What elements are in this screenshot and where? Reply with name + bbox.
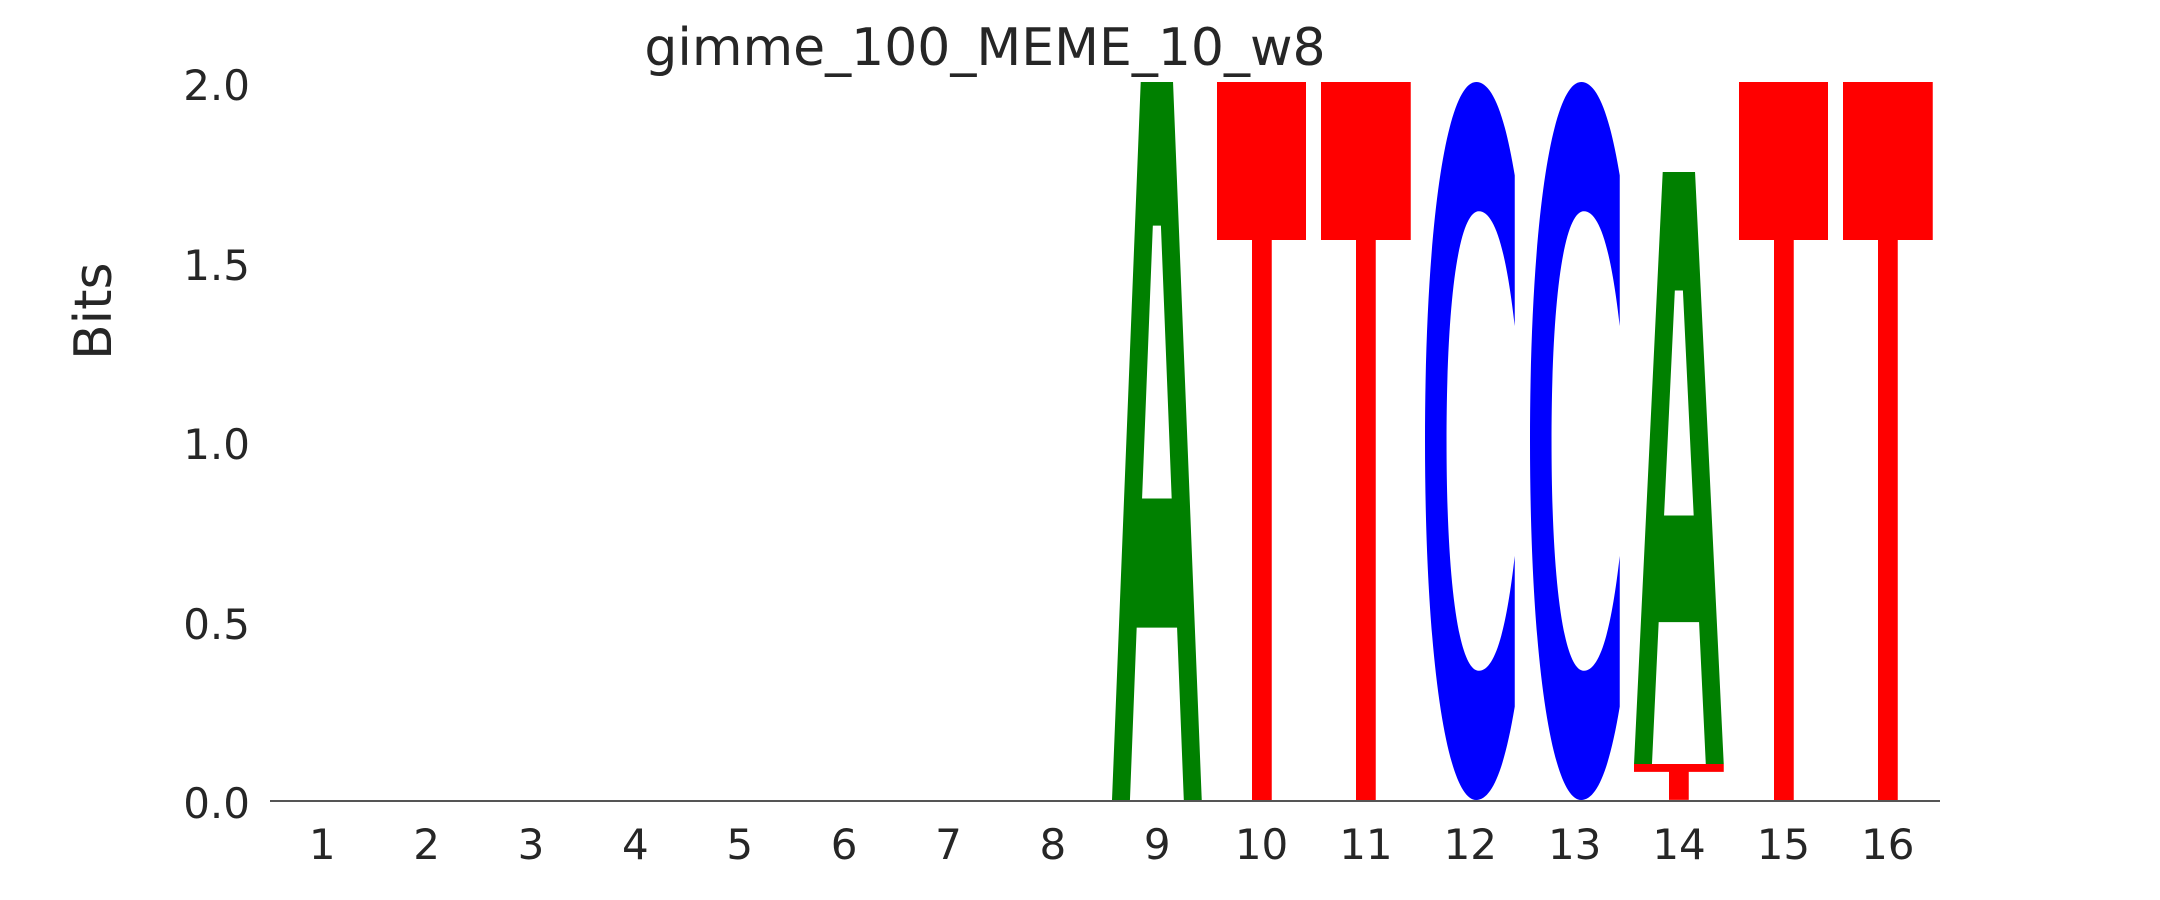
logo-stack-position-9 [1112,82,1202,800]
logo-stack-position-16 [1843,82,1933,800]
x-tick-label: 3 [471,820,591,869]
logo-letter-a [1112,82,1202,800]
y-tick-label: 1.5 [110,241,250,290]
sequence-logo-figure: gimme_100_MEME_10_w8 Bits 0.00.51.01.52.… [0,0,2160,900]
logo-stack-position-15 [1739,82,1829,800]
x-tick-label: 15 [1723,820,1843,869]
logo-stack-position-11 [1321,82,1411,800]
y-tick-label: 0.5 [110,600,250,649]
x-tick-label: 2 [367,820,487,869]
x-tick-label: 8 [993,820,1113,869]
y-tick-label: 1.0 [110,420,250,469]
logo-stack-position-13 [1530,82,1620,800]
logo-stack-position-10 [1217,82,1307,800]
x-tick-label: 5 [680,820,800,869]
logo-stack-position-14 [1634,82,1724,800]
logo-letter-a [1634,172,1724,764]
x-tick-label: 4 [575,820,695,869]
logo-stack-position-12 [1425,82,1515,800]
x-tick-label: 9 [1097,820,1217,869]
logo-letter-t [1321,82,1411,800]
x-tick-label: 1 [262,820,382,869]
x-tick-label: 11 [1306,820,1426,869]
y-tick-label: 2.0 [110,61,250,110]
x-tick-label: 10 [1202,820,1322,869]
x-tick-label: 7 [888,820,1008,869]
x-tick-label: 14 [1619,820,1739,869]
x-tick-label: 12 [1410,820,1530,869]
y-tick-label: 0.0 [110,779,250,828]
chart-title: gimme_100_MEME_10_w8 [0,18,2065,78]
plot-area [270,82,1940,800]
x-axis-line [270,800,1940,802]
x-tick-label: 16 [1828,820,1948,869]
logo-letter-c [1530,82,1620,800]
x-tick-label: 6 [784,820,904,869]
x-tick-label: 13 [1515,820,1635,869]
logo-letter-t [1217,82,1307,800]
logo-letter-t [1634,764,1724,800]
logo-letter-t [1739,82,1829,800]
logo-letter-t [1843,82,1933,800]
logo-letter-c [1425,82,1515,800]
